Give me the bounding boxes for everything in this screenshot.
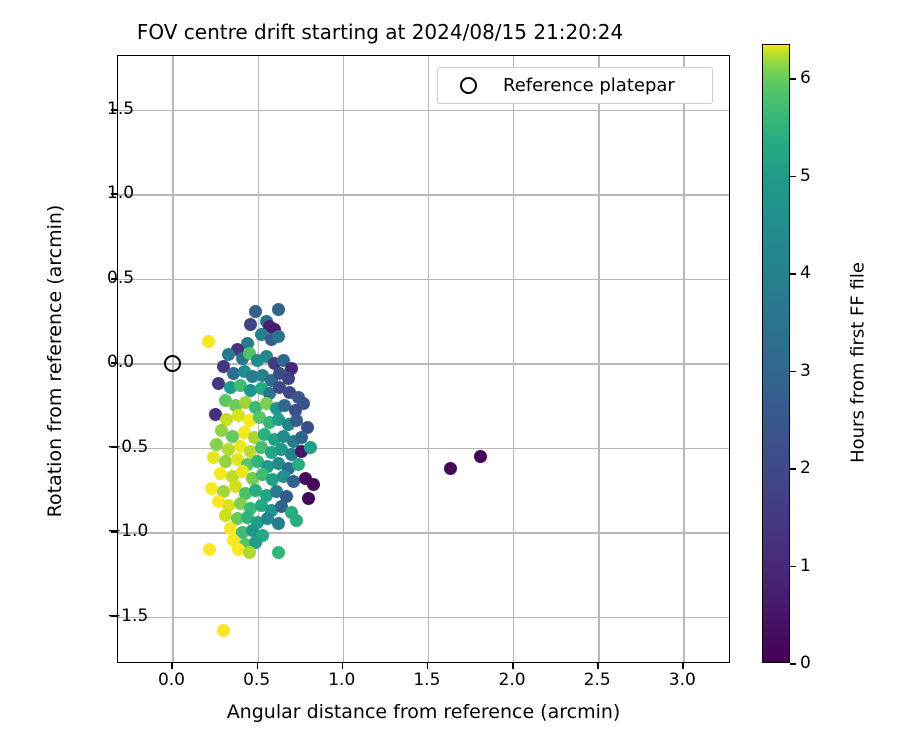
gridline-horizontal-1 (118, 532, 729, 533)
gridline-horizontal-4 (118, 279, 729, 280)
colorbar-tick-mark-4 (790, 273, 796, 275)
colorbar-tick-label-6: 6 (800, 68, 811, 88)
colorbar-tick-label-5: 5 (800, 166, 811, 186)
colorbar-tick-label-2: 2 (800, 458, 811, 478)
scatter-point (272, 303, 285, 316)
x-tick-label-6: 3.0 (669, 670, 696, 690)
gridline-horizontal-2 (118, 448, 729, 449)
scatter-point (244, 318, 257, 331)
chart-page: FOV centre drift starting at 2024/08/15 … (0, 0, 900, 750)
scatter-point (203, 543, 216, 556)
scatter-point (272, 546, 285, 559)
reference-platepar-marker-icon (460, 77, 477, 94)
x-tick-label-0: 0.0 (158, 670, 185, 690)
x-tick-label-1: 0.5 (243, 670, 270, 690)
scatter-point (217, 624, 230, 637)
scatter-point (290, 514, 303, 527)
gridline-vertical-2 (343, 56, 344, 662)
legend[interactable]: Reference platepar (437, 67, 713, 104)
colorbar-tick-mark-6 (790, 78, 796, 80)
scatter-point (212, 377, 225, 390)
scatter-point (292, 458, 305, 471)
legend-item-label: Reference platepar (503, 75, 675, 96)
colorbar-tick-mark-3 (790, 371, 796, 373)
scatter-point (297, 397, 310, 410)
x-tick-mark-4 (512, 663, 514, 669)
colorbar-tick-label-0: 0 (800, 653, 811, 673)
x-tick-mark-1 (257, 663, 259, 669)
colorbar-tick-mark-5 (790, 176, 796, 178)
colorbar-tick-mark-0 (790, 663, 796, 665)
gridline-vertical-5 (598, 56, 599, 662)
colorbar-tick-mark-1 (790, 566, 796, 568)
scatter-point (304, 441, 317, 454)
x-tick-mark-2 (342, 663, 344, 669)
gridline-vertical-3 (428, 56, 429, 662)
scatter-point (202, 335, 215, 348)
scatter-point (219, 509, 232, 522)
x-tick-mark-3 (427, 663, 429, 669)
x-tick-mark-5 (597, 663, 599, 669)
colorbar-tick-label-4: 4 (800, 263, 811, 283)
x-tick-mark-0 (171, 663, 173, 669)
scatter-point (249, 305, 262, 318)
y-axis-label: Rotation from reference (arcmin) (44, 131, 66, 591)
colorbar (762, 44, 790, 663)
scatter-point (207, 451, 220, 464)
scatter-point (272, 330, 285, 343)
gridline-horizontal-0 (118, 617, 729, 618)
gridline-horizontal-5 (118, 194, 729, 195)
scatter-point (243, 546, 256, 559)
scatter-point (307, 478, 320, 491)
reference-platepar-marker (164, 355, 181, 372)
plot-area (117, 55, 730, 663)
x-axis-label: Angular distance from reference (arcmin) (117, 701, 730, 723)
page-title: FOV centre drift starting at 2024/08/15 … (0, 20, 760, 44)
gridline-horizontal-3 (118, 363, 729, 364)
x-tick-label-2: 1.0 (328, 670, 355, 690)
colorbar-tick-label-1: 1 (800, 556, 811, 576)
x-tick-label-5: 2.5 (584, 670, 611, 690)
x-tick-label-4: 2.0 (499, 670, 526, 690)
scatter-point (302, 492, 315, 505)
gridline-vertical-6 (683, 56, 684, 662)
scatter-point (272, 517, 285, 530)
colorbar-label: Hours from first FF file (848, 133, 869, 593)
x-tick-mark-6 (682, 663, 684, 669)
colorbar-tick-mark-2 (790, 468, 796, 470)
scatter-point (474, 450, 487, 463)
scatter-point (444, 462, 457, 475)
x-tick-label-3: 1.5 (413, 670, 440, 690)
scatter-point (219, 455, 232, 468)
gridline-vertical-4 (513, 56, 514, 662)
scatter-point (287, 475, 300, 488)
scatter-point (214, 467, 227, 480)
gridline-horizontal-6 (118, 110, 729, 111)
colorbar-tick-label-3: 3 (800, 361, 811, 381)
